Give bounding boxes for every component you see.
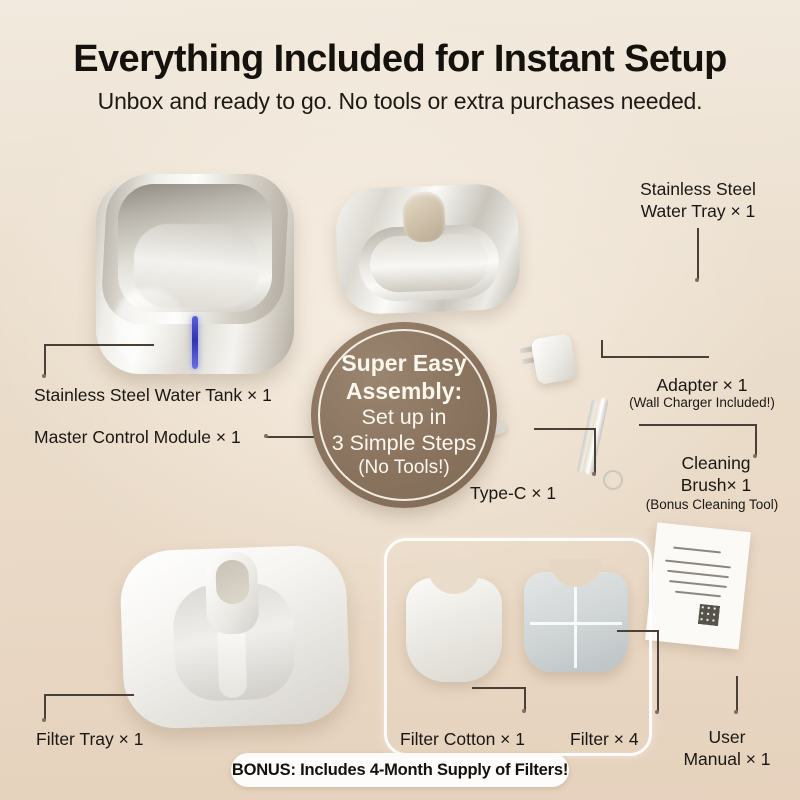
manual-sheet (645, 522, 751, 649)
callout-note-cleaning-brush: (Bonus Cleaning Tool) (626, 496, 798, 513)
leader-line-filter-cotton-v (524, 687, 526, 711)
leader-line-type-c-v (594, 428, 596, 474)
bonus-banner-text: BONUS: Includes 4-Month Supply of Filter… (232, 761, 568, 780)
tray-well-inner (369, 233, 489, 293)
stainless-steel-water-tank-image (88, 168, 303, 383)
leader-dot-filter (655, 710, 659, 714)
bonus-filters-outline (384, 538, 652, 756)
brush-ring-handle (603, 470, 623, 490)
leader-dot-water-tray (695, 278, 699, 282)
product-infographic: Everything Included for Instant Setup Un… (0, 0, 800, 800)
leader-line-water-tray (697, 228, 699, 280)
qr-code-icon (698, 604, 720, 626)
leader-line-user-manual (736, 676, 738, 712)
adapter-image (520, 336, 574, 386)
badge-line-1: Super Easy (332, 350, 477, 378)
callout-label-filter: Filter × 4 (570, 728, 639, 750)
leader-dot-type-c (592, 472, 596, 476)
stainless-steel-water-tray-image (337, 186, 519, 316)
tray-spout (402, 191, 447, 243)
leader-dot-user-manual (734, 710, 738, 714)
leader-dot-master-control (264, 434, 268, 438)
led-indicator-icon (192, 316, 198, 369)
leader-line-filter-v (657, 630, 659, 712)
badge-line-3: Set up in (332, 405, 477, 431)
leader-line-filter (617, 630, 659, 632)
user-manual-image (651, 527, 745, 645)
leader-dot-filter-cotton (522, 709, 526, 713)
adapter-body (530, 333, 577, 385)
leader-dot-water-tank (42, 374, 46, 378)
leader-line-filter-cotton (472, 687, 526, 689)
callout-label-filter-tray: Filter Tray × 1 (36, 728, 143, 750)
leader-line-adapter (601, 356, 709, 358)
filter-tray-image (122, 540, 348, 730)
leader-line-filter-tray-v (44, 694, 46, 720)
callout-label-user-manual: User Manual × 1 (660, 726, 794, 771)
callout-label-type-c: Type-C × 1 (470, 482, 556, 504)
tank-highlight (114, 288, 184, 368)
leader-line-water-tank-v (44, 344, 46, 376)
leader-line-filter-tray (44, 694, 134, 696)
badge-line-5: (No Tools!) (332, 457, 477, 480)
bonus-banner: BONUS: Includes 4-Month Supply of Filter… (231, 753, 569, 787)
callout-label-cleaning-brush: Cleaning Brush× 1 (636, 452, 796, 497)
callout-label-water-tray: Stainless Steel Water Tray × 1 (600, 178, 796, 223)
leader-line-type-c (534, 428, 596, 430)
callout-label-filter-cotton: Filter Cotton × 1 (400, 728, 525, 750)
easy-assembly-badge: Super Easy Assembly: Set up in 3 Simple … (311, 322, 497, 508)
leader-line-adapter-v (601, 340, 603, 356)
callout-label-water-tank: Stainless Steel Water Tank × 1 (34, 384, 272, 406)
callout-note-adapter: (Wall Charger Included!) (612, 394, 792, 411)
leader-line-brush (639, 424, 757, 426)
page-title: Everything Included for Instant Setup (0, 38, 800, 81)
leader-line-water-tank (44, 344, 154, 346)
leader-dot-filter-tray (42, 718, 46, 722)
filter-tray-opening (215, 559, 250, 604)
filter-tray-channel (217, 624, 248, 699)
badge-line-4: 3 Simple Steps (332, 431, 477, 457)
page-subtitle: Unbox and ready to go. No tools or extra… (0, 88, 800, 115)
badge-line-2: Assembly: (332, 378, 477, 406)
cleaning-brush-image (580, 398, 640, 498)
callout-label-master-control: Master Control Module × 1 (34, 426, 241, 448)
